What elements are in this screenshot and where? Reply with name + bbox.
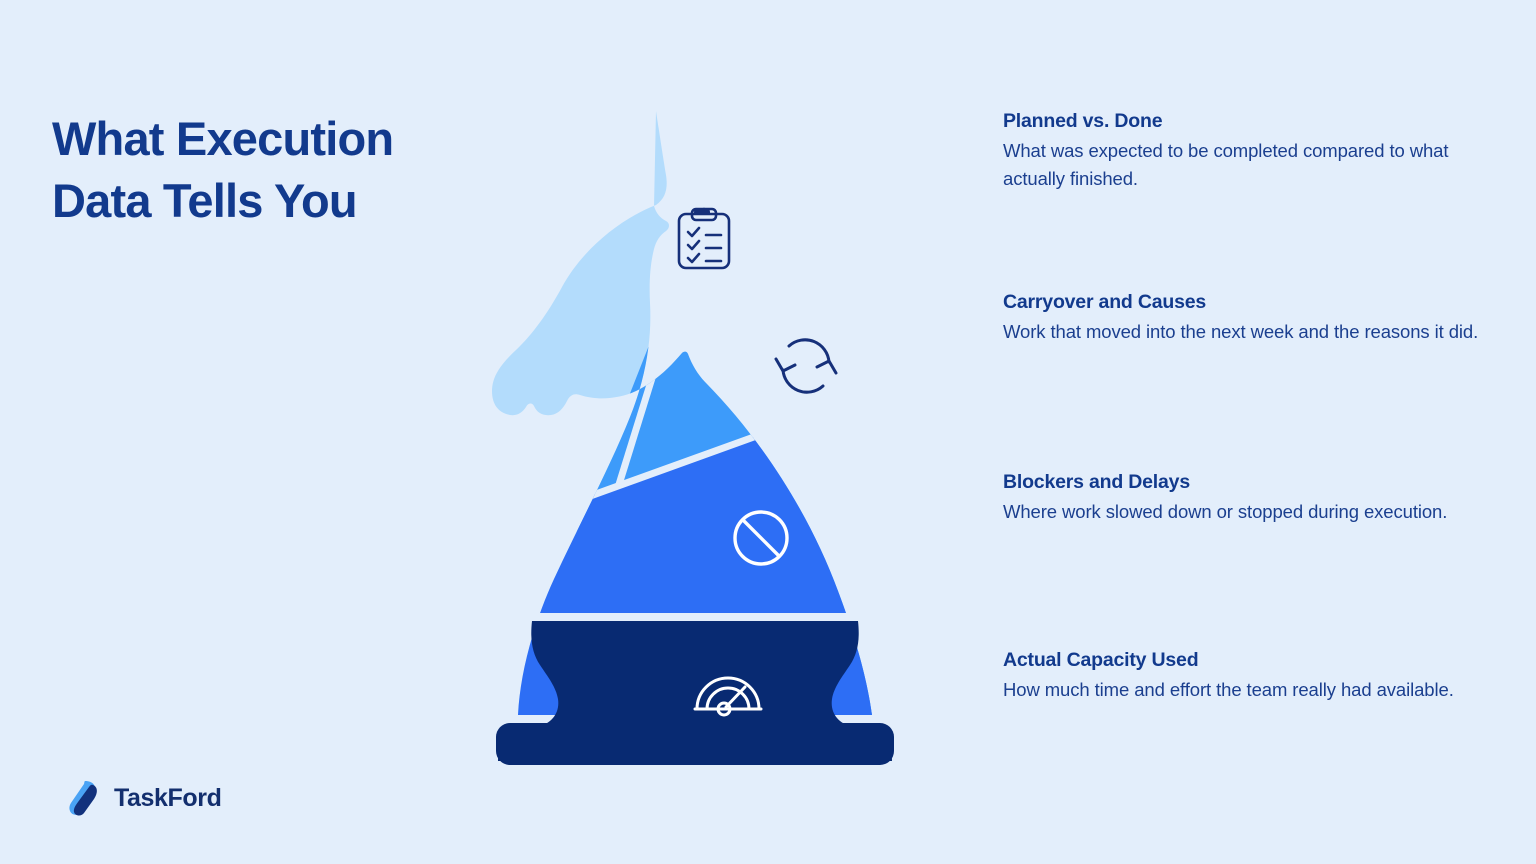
list-item-description: How much time and effort the team really… <box>1003 676 1498 704</box>
list-item-actual-capacity-used: Actual Capacity Used How much time and e… <box>1003 647 1498 704</box>
chess-knight-svg <box>470 95 920 765</box>
infographic-canvas: What Execution Data Tells You <box>0 0 1536 864</box>
list-item-title: Blockers and Delays <box>1003 469 1498 495</box>
list-item-title: Carryover and Causes <box>1003 289 1498 315</box>
list-item-blockers-and-delays: Blockers and Delays Where work slowed do… <box>1003 469 1498 526</box>
knight-base-plinth <box>496 723 894 765</box>
list-item-planned-vs-done: Planned vs. Done What was expected to be… <box>1003 108 1498 192</box>
list-item-description: Where work slowed down or stopped during… <box>1003 498 1498 526</box>
list-item-description: What was expected to be completed compar… <box>1003 137 1498 192</box>
list-item-title: Actual Capacity Used <box>1003 647 1498 673</box>
chess-knight-illustration <box>470 95 920 765</box>
list-item-carryover-and-causes: Carryover and Causes Work that moved int… <box>1003 289 1498 346</box>
taskford-logo: TaskFord <box>63 778 221 818</box>
list-item-description: Work that moved into the next week and t… <box>1003 318 1498 346</box>
taskford-logo-mark <box>63 778 103 818</box>
knight-base-separator <box>470 613 920 621</box>
list-item-title: Planned vs. Done <box>1003 108 1498 134</box>
taskford-logo-text: TaskFord <box>114 784 221 813</box>
